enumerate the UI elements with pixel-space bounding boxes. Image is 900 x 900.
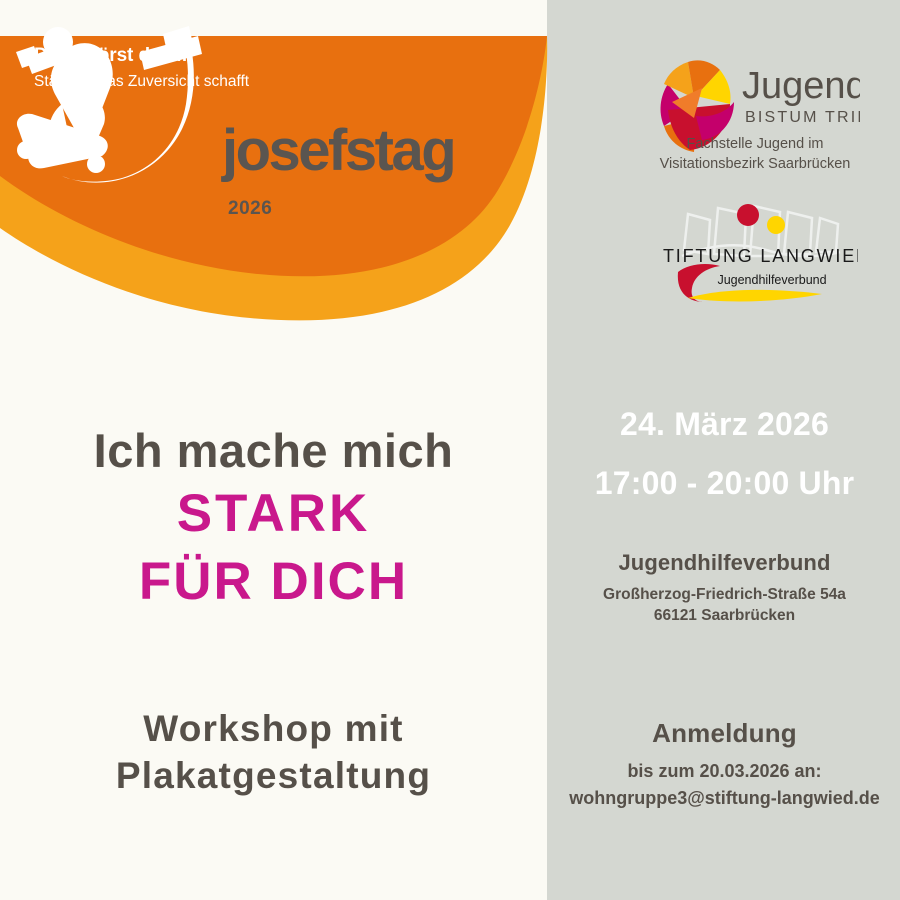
event-venue: Jugendhilfeverbund <box>552 550 897 576</box>
subheadline-line-2: Plakatgestaltung <box>0 752 547 799</box>
jugend-logo-caption-1: Fachstelle Jugend im <box>686 136 823 152</box>
josefstag-year: 2026 <box>228 198 272 220</box>
jugend-bistum-trier-logo: Jugend BISTUM TRIER Fachstelle Jugend im… <box>650 48 860 178</box>
jugend-logo-name: Jugend <box>742 65 860 107</box>
langwied-logo-subtitle: Jugendhilfeverbund <box>717 273 826 287</box>
event-info-block: 24. März 2026 17:00 - 20:00 Uhr Jugendhi… <box>552 405 897 627</box>
jugend-logo-caption-2: Visitationsbezirk Saarbrücken <box>660 156 851 172</box>
signup-title: Anmeldung <box>552 718 897 749</box>
event-city: 66121 Saarbrücken <box>552 606 897 627</box>
orange-banner: Du gehörst dazu! Stärken, was Zuversicht… <box>0 0 560 330</box>
headline-line-1: Ich mache mich <box>0 425 547 478</box>
signup-block: Anmeldung bis zum 20.03.2026 an: wohngru… <box>552 718 897 810</box>
jugend-logo-subtitle: BISTUM TRIER <box>745 109 860 126</box>
stiftung-langwied-logo: STIFTUNG LANGWIED Jugendhilfeverbund <box>662 198 858 303</box>
langwied-yellow-swoosh-icon <box>688 290 822 302</box>
event-date: 24. März 2026 <box>552 405 897 443</box>
langwied-logo-name: STIFTUNG LANGWIED <box>662 246 858 266</box>
poster-canvas: Du gehörst dazu! Stärken, was Zuversicht… <box>0 0 900 900</box>
headline-line-3: FÜR DICH <box>0 549 547 615</box>
langwied-yellow-dot-icon <box>767 216 785 234</box>
signup-email[interactable]: wohngruppe3@stiftung-langwied.de <box>552 787 897 810</box>
langwied-red-dot-icon <box>737 204 759 226</box>
headline-line-2: STARK <box>0 478 547 550</box>
skateboarder-cross-icon <box>0 0 220 190</box>
event-time: 17:00 - 20:00 Uhr <box>552 464 897 502</box>
signup-deadline: bis zum 20.03.2026 an: <box>552 760 897 783</box>
headline-block: Ich mache mich STARK FÜR DICH <box>0 425 547 615</box>
subheadline-block: Workshop mit Plakatgestaltung <box>0 705 547 800</box>
subheadline-line-1: Workshop mit <box>0 705 547 752</box>
josefstag-wordmark: josefstag <box>222 122 454 180</box>
event-street: Großherzog-Friedrich-Straße 54a <box>552 585 897 606</box>
